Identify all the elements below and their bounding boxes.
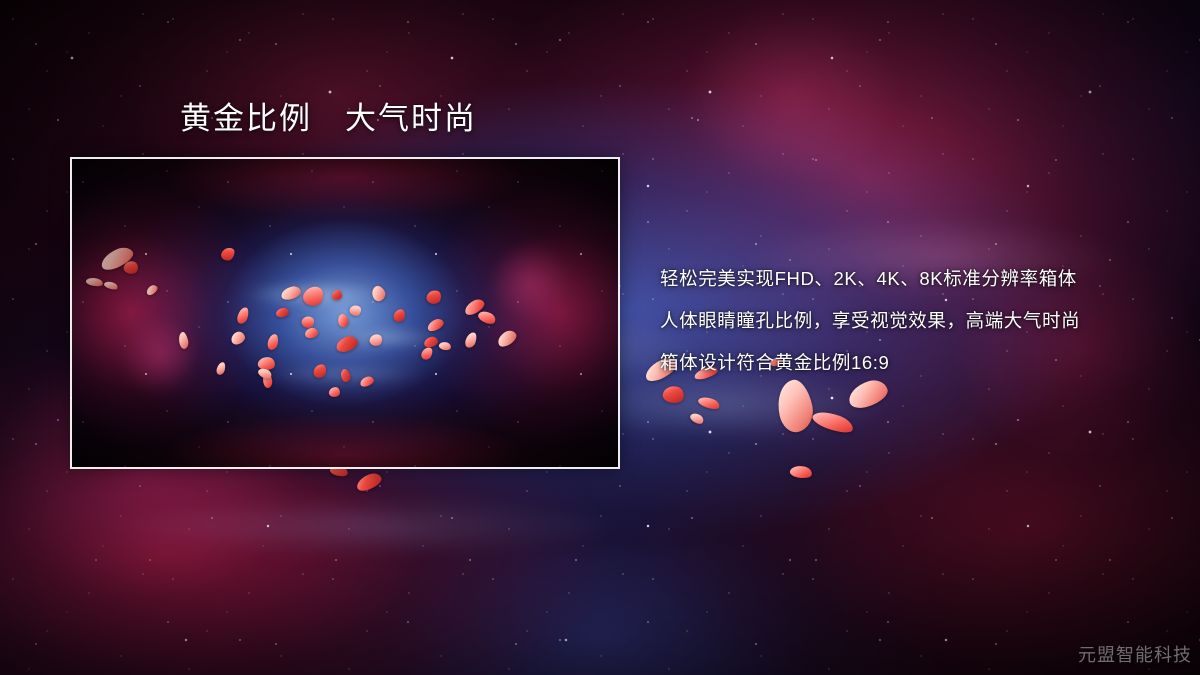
product-photo — [72, 159, 618, 467]
body-line-2: 人体眼睛瞳孔比例，享受视觉效果，高端大气时尚 — [660, 300, 1160, 342]
body-line-1: 轻松完美实现FHD、2K、4K、8K标准分辨率箱体 — [660, 258, 1160, 300]
photo-vignette — [72, 159, 618, 467]
product-photo-frame — [70, 157, 620, 469]
body-copy: 轻松完美实现FHD、2K、4K、8K标准分辨率箱体 人体眼睛瞳孔比例，享受视觉效… — [660, 258, 1160, 384]
presentation-slide: 黄金比例 大气时尚 轻松完美实现FHD、2K、4K、8K标准分辨率箱体 人体眼睛… — [0, 0, 1200, 675]
body-line-3: 箱体设计符合黄金比例16:9 — [660, 342, 1160, 384]
watermark-company-name: 元盟智能科技 — [1078, 641, 1192, 667]
page-title: 黄金比例 大气时尚 — [180, 100, 477, 139]
